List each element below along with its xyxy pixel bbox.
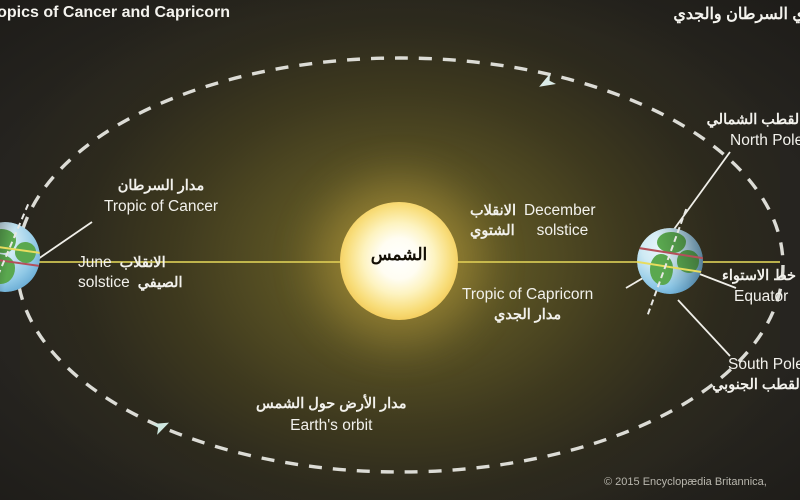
label-earth-orbit: مدار الأرض حول الشمس Earth's orbit xyxy=(256,396,407,435)
december-solstice-en-line1: December xyxy=(524,202,596,220)
tropic-cancer-ar: مدار السرطان xyxy=(104,178,218,195)
south-pole-ar: القطب الجنوبي xyxy=(710,377,800,394)
equator-ar: خط الاستواء xyxy=(722,268,796,285)
copyright-notice: © 2015 Encyclopædia Britannica, xyxy=(604,476,767,488)
label-north-pole: القطب الشمالي North Pole xyxy=(698,112,800,150)
june-solstice-ar-line2: الصيفي xyxy=(138,275,183,292)
june-solstice-row1: June الانقلاب xyxy=(78,254,183,272)
earth-orbit-en: Earth's orbit xyxy=(256,417,407,435)
label-december-solstice: الانقلاب December الشتوي solstice xyxy=(470,202,595,241)
tropic-capricorn-ar: مدار الجدي xyxy=(462,307,593,324)
north-pole-ar: القطب الشمالي xyxy=(698,112,800,129)
earth-orbit-ar: مدار الأرض حول الشمس xyxy=(256,396,407,413)
equator-en: Equator xyxy=(734,288,796,306)
june-solstice-ar-line1: الانقلاب xyxy=(120,255,166,272)
december-solstice-row1: الانقلاب December xyxy=(470,202,595,220)
page-title-en: Tropics of Cancer and Capricorn xyxy=(0,4,230,22)
page-title-ar: مداري السرطان والجدي xyxy=(673,4,800,24)
tropic-cancer-en: Tropic of Cancer xyxy=(104,198,218,216)
label-june-solstice: June الانقلاب solstice الصيفي xyxy=(78,254,183,293)
north-pole-en: North Pole xyxy=(730,132,800,150)
june-solstice-en-line2: solstice xyxy=(78,274,130,292)
diagram-canvas: Tropics of Cancer and Capricorn مداري ال… xyxy=(0,0,800,500)
tropic-capricorn-en: Tropic of Capricorn xyxy=(462,286,593,304)
label-south-pole: South Pole القطب الجنوبي xyxy=(728,356,800,394)
label-tropic-cancer: مدار السرطان Tropic of Cancer xyxy=(104,178,218,216)
june-solstice-row2: solstice الصيفي xyxy=(78,274,183,292)
label-equator: خط الاستواء Equator xyxy=(722,268,796,306)
december-solstice-row2: الشتوي solstice xyxy=(470,222,595,240)
december-solstice-ar-line1: الانقلاب xyxy=(470,203,516,220)
sun-label: الشمس xyxy=(340,245,458,265)
south-pole-en: South Pole xyxy=(728,356,800,374)
june-solstice-en-line1: June xyxy=(78,254,112,272)
december-solstice-ar-line2: الشتوي xyxy=(470,223,515,240)
leader-line-south-pole xyxy=(678,300,730,356)
december-solstice-en-line2: solstice xyxy=(537,222,589,240)
label-tropic-capricorn: Tropic of Capricorn مدار الجدي xyxy=(462,286,593,324)
